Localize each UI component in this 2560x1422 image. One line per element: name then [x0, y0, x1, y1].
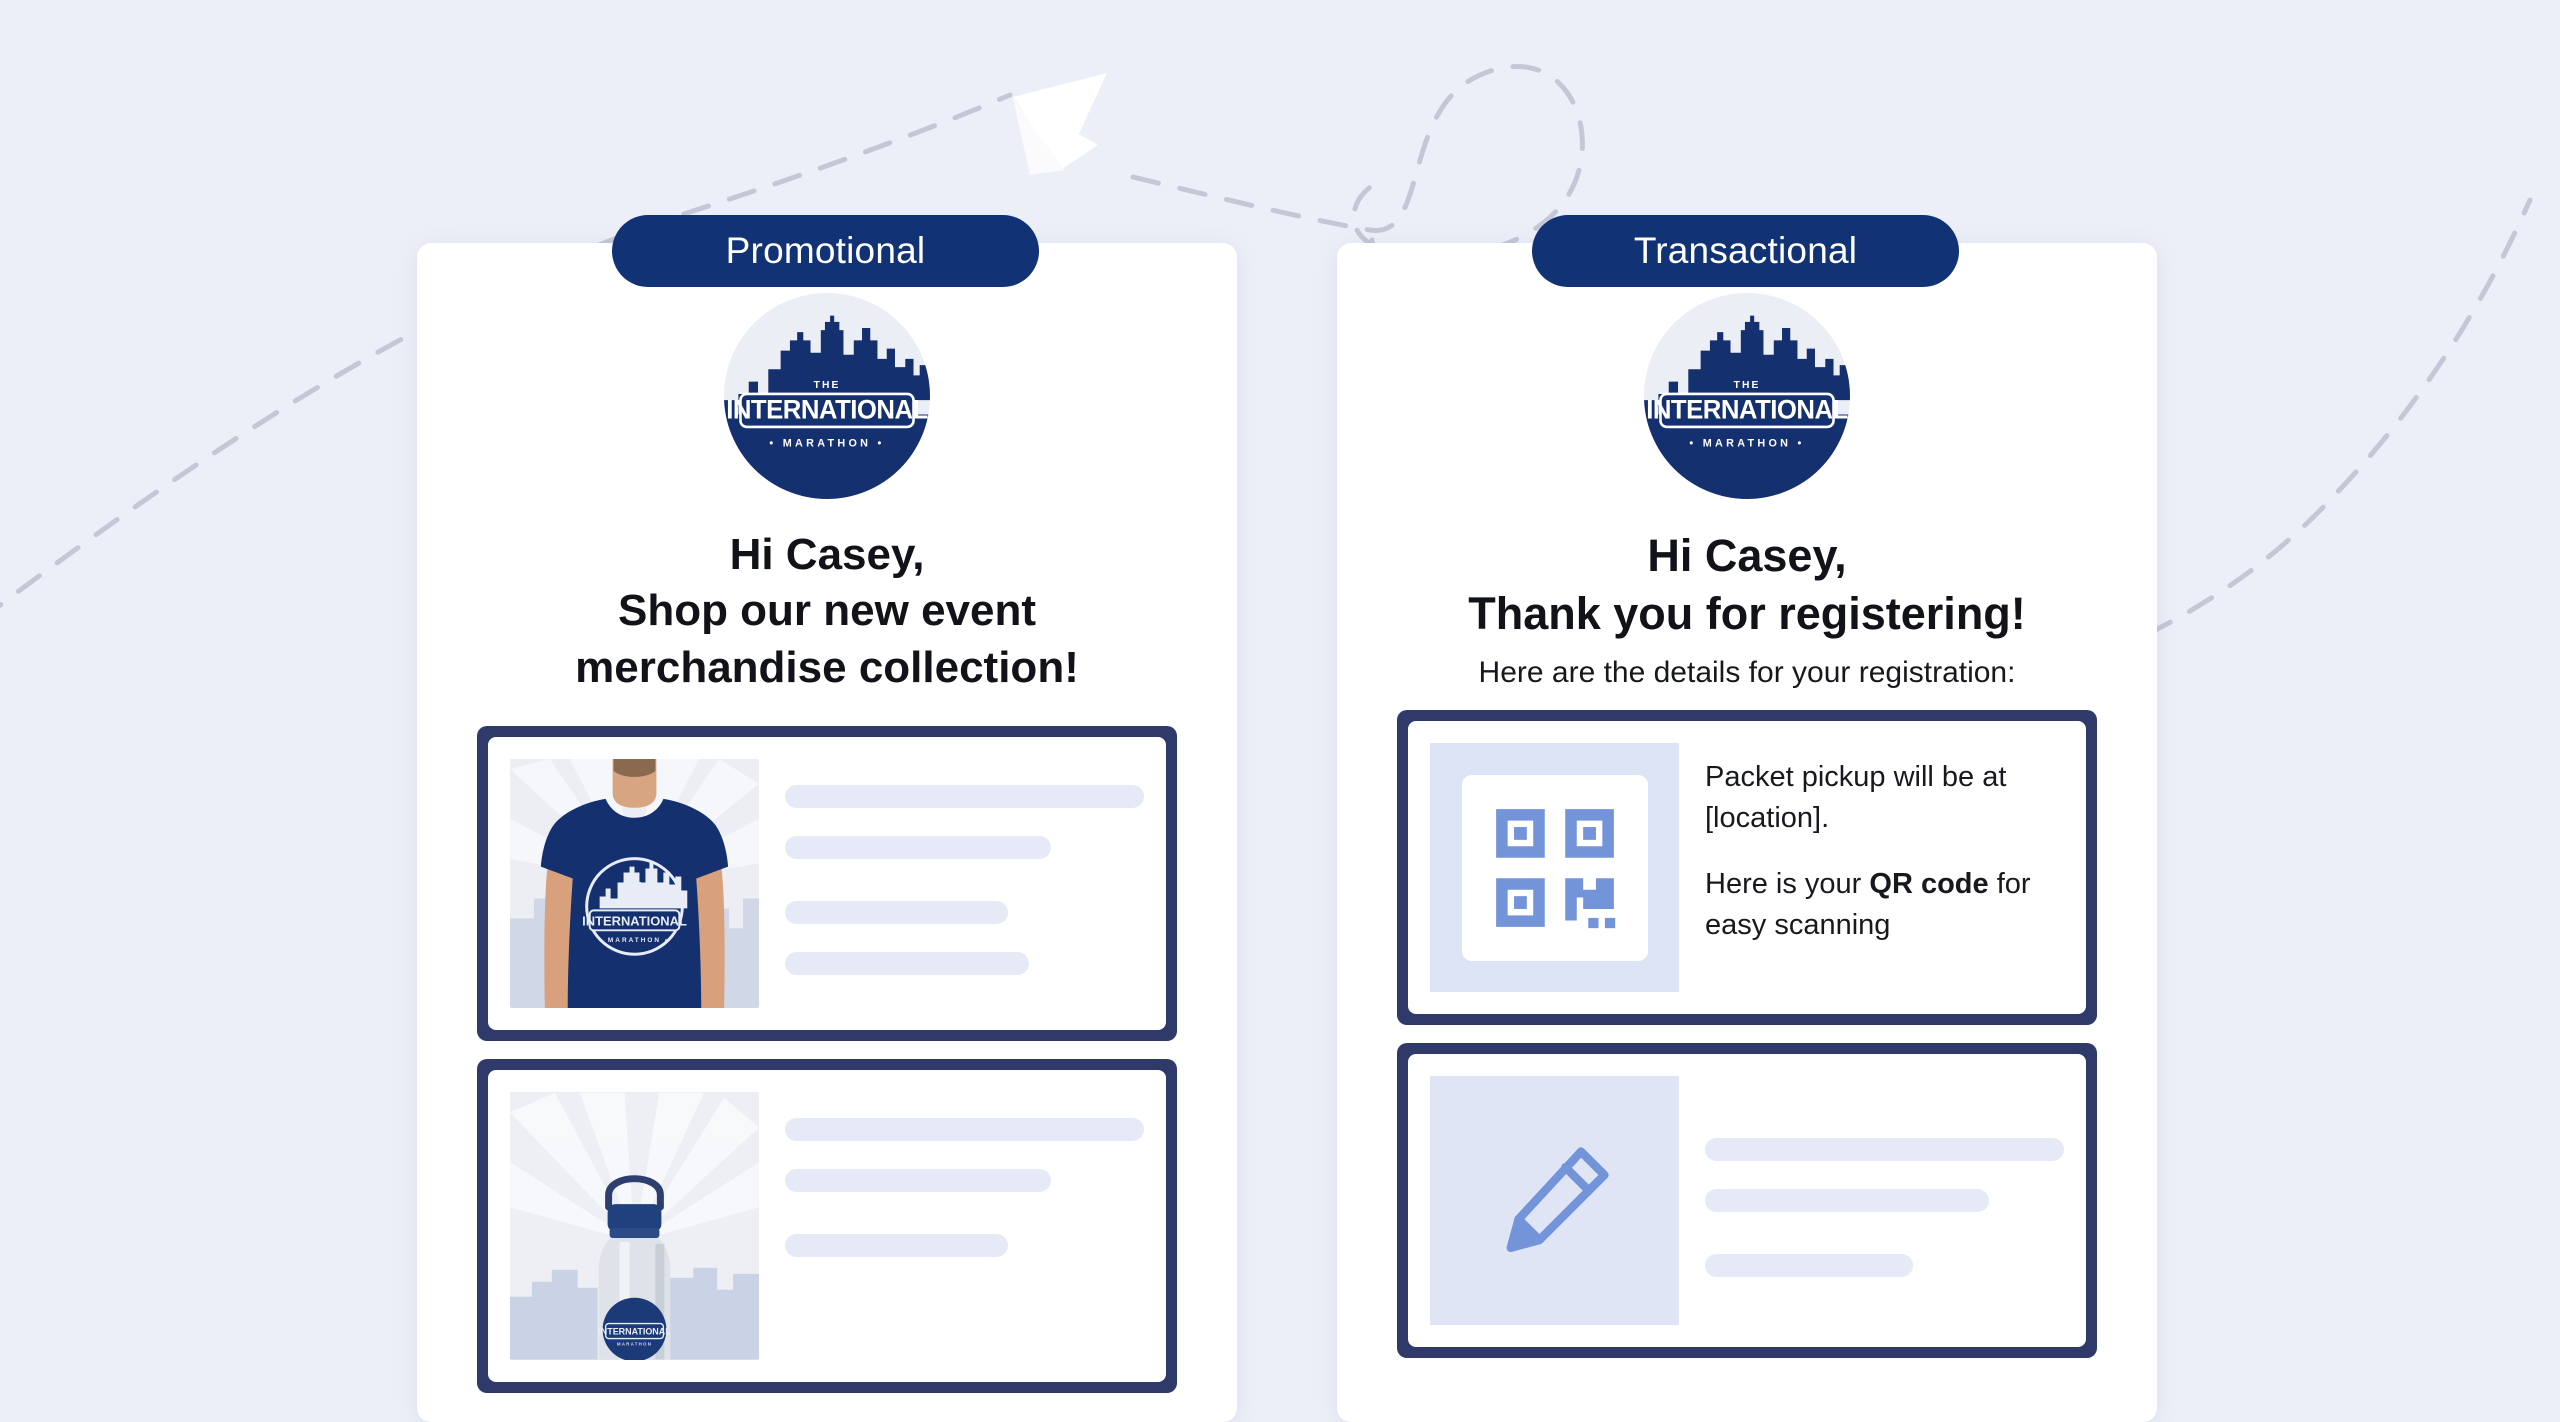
qr-code-container — [1430, 743, 1679, 992]
svg-text:• MARATHON •: • MARATHON • — [600, 937, 669, 944]
qr-code-icon — [1491, 804, 1619, 932]
detail-card-qr[interactable]: Packet pickup will be at [location]. Her… — [1408, 721, 2086, 1014]
product-card-bottle[interactable]: INTERNATIONAL MARATHON — [488, 1070, 1166, 1382]
card-body: INTERNATIONAL THE • MARATHON • Hi Casey,… — [417, 243, 1237, 1422]
skeleton-bar — [785, 836, 1051, 859]
skeleton-bar — [785, 952, 1029, 975]
tshirt-photo: INTERNATIONAL • MARATHON • THE — [510, 759, 759, 1008]
svg-text:INTERNATIONAL: INTERNATIONAL — [598, 1327, 671, 1337]
skeleton-bar — [785, 785, 1144, 808]
svg-text:• MARATHON •: • MARATHON • — [769, 437, 884, 449]
product-text-placeholder — [785, 1092, 1144, 1257]
svg-text:• MARATHON •: • MARATHON • — [1689, 437, 1804, 449]
logo-banner: INTERNATIONAL — [726, 394, 928, 427]
svg-text:INTERNATIONAL: INTERNATIONAL — [1646, 394, 1848, 425]
pencil-icon — [1490, 1136, 1620, 1266]
logo-banner: INTERNATIONAL — [1646, 394, 1848, 427]
heading-line: Hi Casey, — [477, 527, 1177, 583]
dashed-flight-path-loop — [1133, 66, 1582, 257]
product-text-placeholder — [785, 759, 1144, 975]
heading-line: Shop our new event — [477, 583, 1177, 639]
heading-line: Hi Casey, — [1397, 527, 2097, 585]
registration-subtext: Here are the details for your registrati… — [1397, 656, 2097, 690]
svg-text:THE: THE — [626, 882, 642, 888]
skeleton-bar — [785, 1118, 1144, 1141]
heading-line: Thank you for registering! — [1397, 585, 2097, 643]
skeleton-bar — [1705, 1254, 1913, 1277]
paper-plane-icon — [1013, 73, 1107, 175]
pencil-container — [1430, 1076, 1679, 1325]
brand-logo: INTERNATIONAL THE • MARATHON • — [477, 293, 1177, 499]
skeleton-bar — [1705, 1138, 2064, 1161]
qr-code-surface — [1462, 775, 1648, 961]
water-bottle-photo: INTERNATIONAL MARATHON — [510, 1092, 759, 1360]
skeleton-bar — [785, 901, 1008, 924]
svg-text:THE: THE — [1734, 380, 1761, 391]
product-card-tshirt[interactable]: INTERNATIONAL • MARATHON • THE — [488, 737, 1166, 1030]
qr-code-emphasis: QR code — [1869, 868, 1988, 900]
detail-paragraph-location: Packet pickup will be at [location]. — [1705, 757, 2064, 839]
skeleton-bar — [785, 1234, 1008, 1257]
detail-paragraph-qr: Here is your QR code for easy scanning — [1705, 864, 2064, 946]
svg-text:INTERNATIONAL: INTERNATIONAL — [726, 394, 928, 425]
product-panel: INTERNATIONAL MARATHON — [477, 1059, 1177, 1393]
detail-panel: Packet pickup will be at [location]. Her… — [1397, 710, 2097, 1025]
svg-text:MARATHON: MARATHON — [617, 1341, 652, 1346]
marathon-logo-icon: INTERNATIONAL THE • MARATHON • — [1644, 293, 1850, 499]
skeleton-bar — [1705, 1189, 1989, 1212]
skeleton-bar — [785, 1169, 1051, 1192]
card-body: INTERNATIONAL THE • MARATHON • Hi Casey,… — [1337, 243, 2157, 1422]
brand-logo: INTERNATIONAL THE • MARATHON • — [1397, 293, 2097, 499]
email-preview-card-promotional: INTERNATIONAL THE • MARATHON • Hi Casey,… — [417, 243, 1237, 1422]
detail-text-placeholder — [1705, 1076, 2064, 1277]
svg-text:THE: THE — [814, 380, 841, 391]
detail-card-edit[interactable] — [1408, 1054, 2086, 1347]
page-title-promotional: Hi Casey, Shop our new event merchandise… — [477, 527, 1177, 696]
detail-panel — [1397, 1043, 2097, 1358]
email-preview-card-transactional: INTERNATIONAL THE • MARATHON • Hi Casey,… — [1337, 243, 2157, 1422]
svg-text:INTERNATIONAL: INTERNATIONAL — [582, 913, 687, 928]
heading-line: merchandise collection! — [477, 640, 1177, 696]
badge-promotional[interactable]: Promotional — [612, 215, 1039, 287]
badge-transactional[interactable]: Transactional — [1532, 215, 1959, 287]
background-decoration — [0, 0, 2560, 1422]
page-title-transactional: Hi Casey, Thank you for registering! — [1397, 527, 2097, 642]
registration-details-text: Packet pickup will be at [location]. Her… — [1705, 743, 2064, 946]
marathon-logo-icon: INTERNATIONAL THE • MARATHON • — [724, 293, 930, 499]
product-panel: INTERNATIONAL • MARATHON • THE — [477, 726, 1177, 1041]
